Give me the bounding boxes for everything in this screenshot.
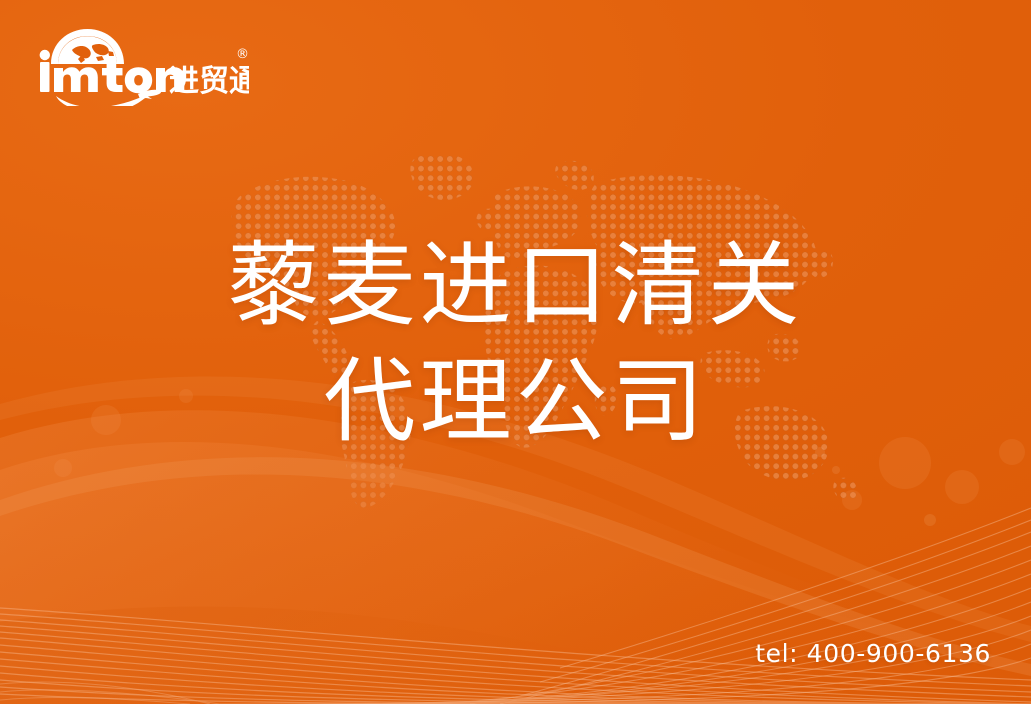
headline-line-2: 代理公司: [0, 344, 1031, 460]
telephone-text: tel: 400-900-6136: [755, 639, 991, 668]
globe-icon: [51, 29, 124, 64]
brand-logo[interactable]: 进贸通 ®: [34, 26, 249, 106]
logo-chinese-name: 进贸通: [169, 64, 249, 99]
swoosh-icon: [56, 90, 161, 106]
promo-banner: 进贸通 ® 藜麦进口清关 代理公司 tel: 400-900-6136: [0, 0, 1031, 704]
trademark-symbol: ®: [236, 47, 249, 62]
headline: 藜麦进口清关 代理公司: [0, 228, 1031, 460]
headline-line-1: 藜麦进口清关: [0, 228, 1031, 344]
